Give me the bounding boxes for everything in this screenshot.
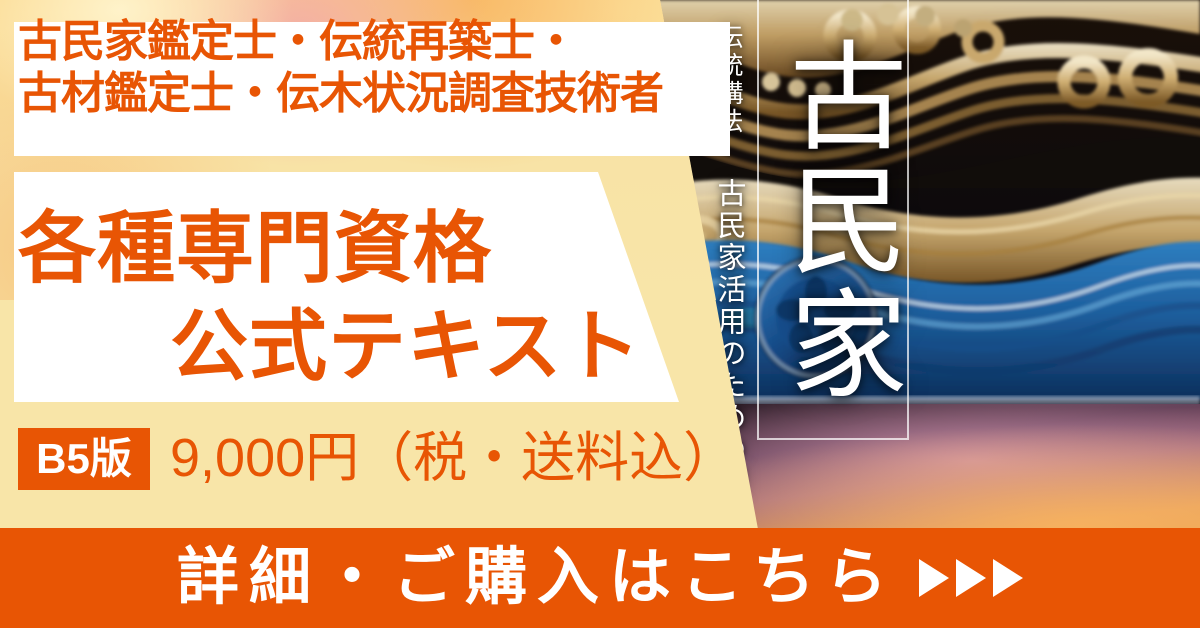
headline-line-1: 古民家鑑定士・伝統再築士・: [18, 17, 577, 66]
cover-title: 古民家: [760, 6, 906, 436]
play-arrow-icon: [956, 559, 986, 597]
promo-banner: 伝統構法 古民家活用のための調査と再生の 古民家 古民家鑑定士・伝統再築士・ 古…: [0, 0, 1200, 628]
cta-label: 詳細・ご購入はこちら: [177, 547, 897, 609]
headline-line-2: 古材鑑定士・伝木状況調査技術者: [18, 68, 663, 120]
cta-bar[interactable]: 詳細・ご購入はこちら: [0, 528, 1200, 628]
format-badge: B5版: [18, 428, 150, 490]
title-line-1: 各種専門資格: [18, 186, 492, 298]
play-arrow-icon: [919, 559, 949, 597]
title-line-2: 公式テキスト: [170, 284, 642, 396]
format-badge-label: B5版: [36, 438, 132, 480]
headline-text: 古民家鑑定士・伝統再築士・ 古材鑑定士・伝木状況調査技術者: [18, 16, 663, 120]
play-arrow-icon: [993, 559, 1023, 597]
price-text: 9,000円（税・送料込）: [170, 426, 737, 490]
cta-arrows: [919, 559, 1023, 597]
